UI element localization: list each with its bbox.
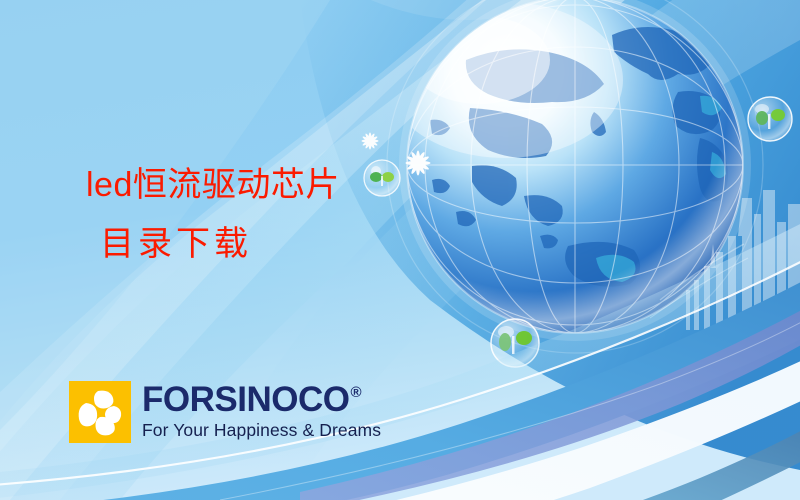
brand-name: FORSINOCO (142, 384, 349, 416)
registered-trademark-icon: ® (350, 385, 361, 400)
headline-line-2: 目录下载 (100, 223, 506, 267)
logo-wordmark: FORSINOCO ® For Your Happiness & Dreams (142, 384, 381, 440)
poster-canvas: led恒流驱动芯片 目录下载 FORSINOCO (0, 0, 800, 500)
headline-block: led恒流驱动芯片 目录下载 (86, 163, 506, 267)
company-logo: FORSINOCO ® For Your Happiness & Dreams (69, 381, 381, 443)
brand-tagline: For Your Happiness & Dreams (142, 420, 381, 440)
bubble-windmill-right (748, 97, 792, 141)
brand-row: FORSINOCO ® (142, 384, 381, 416)
four-petal-flower-icon (69, 381, 131, 443)
headline-line-1: led恒流驱动芯片 (86, 163, 506, 207)
